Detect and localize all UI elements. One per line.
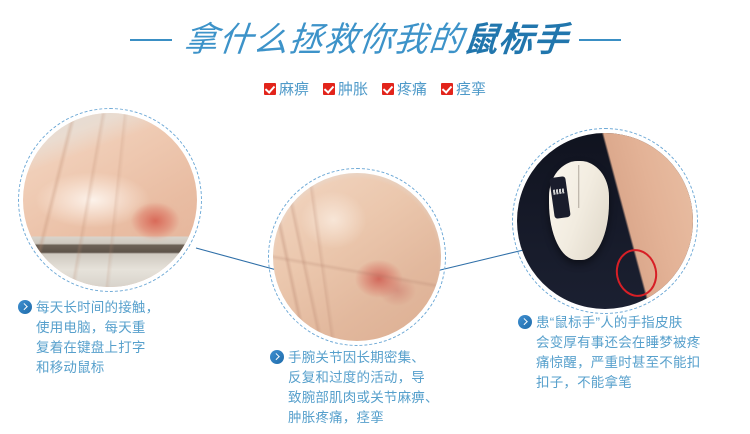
photo-circle-fist-wrist bbox=[268, 168, 446, 346]
symptom-item-numbness[interactable]: 麻痹 bbox=[264, 82, 309, 97]
symptom-label: 疼痛 bbox=[397, 82, 427, 97]
photo-fist-wrist bbox=[273, 173, 441, 341]
title-rule-right bbox=[579, 39, 621, 41]
photo-mouse-hand bbox=[517, 133, 693, 309]
symptom-item-pain[interactable]: 疼痛 bbox=[382, 82, 427, 97]
computer-mouse-icon bbox=[549, 161, 609, 260]
symptom-label: 麻痹 bbox=[279, 82, 309, 97]
page-header: 拿什么拯救你我的鼠标手 bbox=[0, 16, 750, 64]
caption-text: 手腕关节因长期密集、 反复和过度的活动，导 致腕部肌肉或关节麻痹、 肿胀疼痛，痉… bbox=[288, 348, 439, 428]
symptom-list: 麻痹 肿胀 疼痛 痉挛 bbox=[0, 78, 750, 100]
photo-clip bbox=[517, 133, 693, 309]
symptom-label: 肿胀 bbox=[338, 82, 368, 97]
chevron-right-bullet-icon bbox=[18, 300, 32, 314]
caption-block-left: 每天长时间的接触， 使用电脑，每天重 复着在键盘上打字 和移动鼠标 bbox=[18, 298, 203, 378]
photo-circle-wrist-swelling bbox=[18, 108, 202, 292]
photo-wrist-swelling bbox=[23, 113, 197, 287]
red-highlight-ellipse bbox=[611, 245, 661, 300]
mouse-brand-label bbox=[549, 176, 570, 219]
chevron-right-bullet-icon bbox=[270, 350, 284, 364]
caption-text: 患“鼠标手”人的手指皮肤 会变厚有事还会在睡梦被疼 痛惊醒，严重时甚至不能扣 扣… bbox=[536, 313, 700, 393]
photo-clip bbox=[273, 173, 441, 341]
checkbox-checked-icon[interactable] bbox=[323, 83, 335, 95]
photo-clip bbox=[23, 113, 197, 287]
symptom-label: 痉挛 bbox=[456, 82, 486, 97]
checkbox-checked-icon[interactable] bbox=[264, 83, 276, 95]
checkbox-checked-icon[interactable] bbox=[382, 83, 394, 95]
page-title: 拿什么拯救你我的鼠标手 bbox=[182, 23, 571, 58]
photo-circle-mouse-hand bbox=[512, 128, 698, 314]
symptom-item-cramp[interactable]: 痉挛 bbox=[441, 82, 486, 97]
page-title-plain: 拿什么拯救你我的 bbox=[182, 22, 466, 59]
checkbox-checked-icon[interactable] bbox=[441, 83, 453, 95]
caption-block-middle: 手腕关节因长期密集、 反复和过度的活动，导 致腕部肌肉或关节麻痹、 肿胀疼痛，痉… bbox=[270, 348, 470, 428]
symptom-item-swelling[interactable]: 肿胀 bbox=[323, 82, 368, 97]
title-rule-left bbox=[130, 39, 172, 41]
page-title-accent: 鼠标手 bbox=[462, 21, 571, 59]
mouse-seam bbox=[578, 165, 580, 208]
caption-block-right: 患“鼠标手”人的手指皮肤 会变厚有事还会在睡梦被疼 痛惊醒，严重时甚至不能扣 扣… bbox=[518, 313, 743, 393]
caption-text: 每天长时间的接触， 使用电脑，每天重 复着在键盘上打字 和移动鼠标 bbox=[36, 298, 159, 378]
chevron-right-bullet-icon bbox=[518, 315, 532, 329]
